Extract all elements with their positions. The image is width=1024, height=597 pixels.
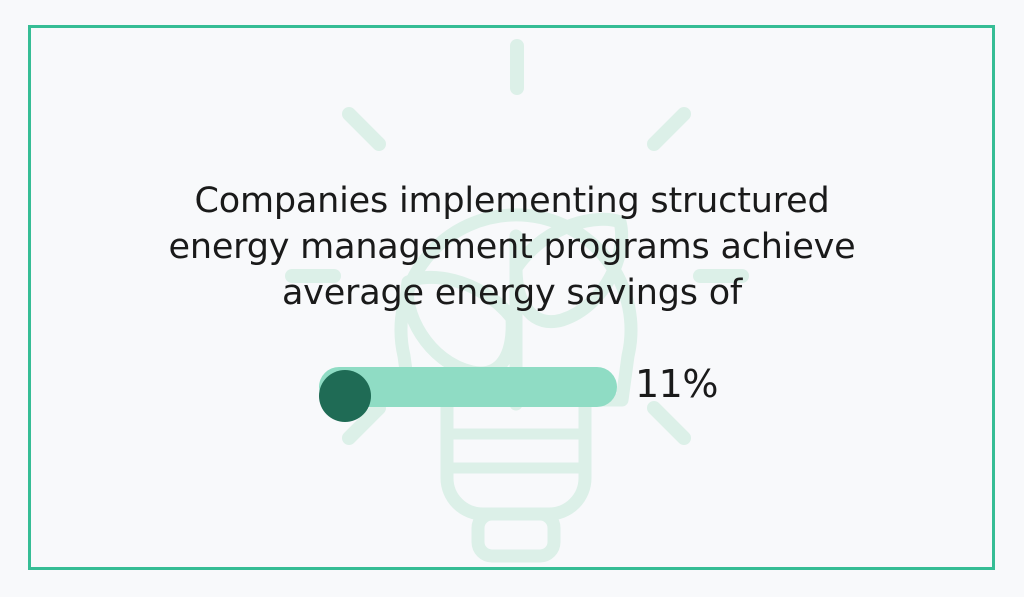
headline-text: Companies implementing structured energy…	[112, 178, 912, 316]
statistic-progress-row: 11%	[319, 360, 718, 407]
statistic-value-label: 11%	[635, 365, 718, 403]
progress-knob-handle[interactable]	[319, 370, 371, 422]
stat-card: Companies implementing structured energy…	[0, 0, 1024, 597]
card-content: Companies implementing structured energy…	[0, 0, 1024, 597]
progress-bar[interactable]	[319, 367, 617, 407]
